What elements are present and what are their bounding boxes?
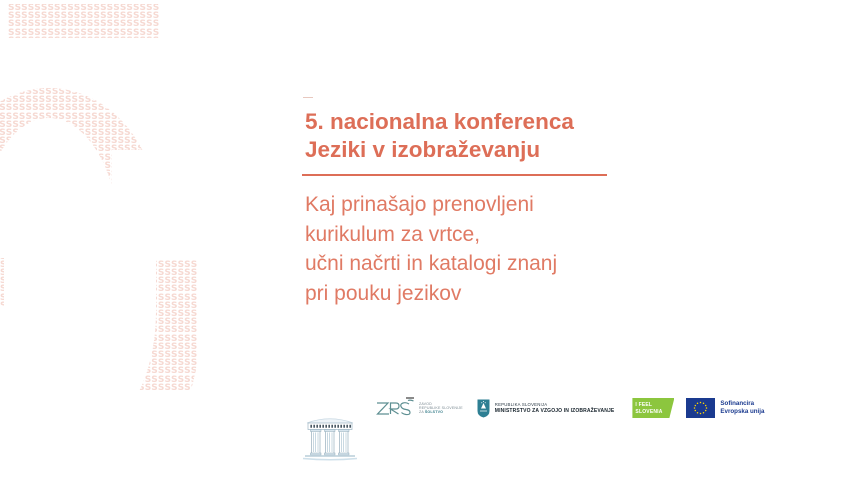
zrss-line-3-bold: ŠOLSTVO (425, 410, 443, 414)
page-title: 5. nacionalna konferenca Jeziki v izobra… (305, 108, 635, 164)
classical-building-logo (298, 408, 362, 464)
zrss-monogram-icon (375, 397, 415, 419)
ministry-line-2: MINISTRSTVO ZA VZGOJO IN IZOBRAŽEVANJE (495, 408, 615, 415)
title-divider (302, 174, 607, 176)
eu-cofunding-logo: Sofinancira Evropska unija (686, 398, 764, 418)
decorative-tick-mark (303, 97, 313, 98)
ifeel-line-1: I FEEL (635, 402, 652, 408)
title-line-1: 5. nacionalna konferenca (305, 108, 635, 136)
partner-logo-strip: ZAVOD REPUBLIKE SLOVENIJE ZA ŠOLSTVO REP… (295, 388, 795, 428)
zrss-logo: ZAVOD REPUBLIKE SLOVENIJE ZA ŠOLSTVO (375, 397, 463, 419)
watermark-mask-upper (0, 118, 120, 258)
eu-flag-icon (686, 398, 715, 418)
background-watermark-s: SSSSSSSSSSSSSSSSSSSSSSSSSSSSSSSSSSSSSSSS… (0, 0, 300, 480)
subtitle-line-3: učni načrti in katalogi znanj (305, 249, 645, 279)
subtitle-line-2: kurikulum za vrtce, (305, 220, 645, 250)
page-subtitle: Kaj prinašajo prenovljeni kurikulum za v… (305, 190, 645, 308)
watermark-segment-upper-curve: SSSSSSSSSSSSSSSSSSSSSSSSSSSSSSSSSSSSSSSS… (0, 88, 158, 248)
conference-title-slide: SSSSSSSSSSSSSSSSSSSSSSSSSSSSSSSSSSSSSSSS… (0, 0, 854, 480)
i-feel-slovenia-logo: I FEEL SLOVENIA (632, 398, 674, 418)
subtitle-line-4: pri pouku jezikov (305, 279, 645, 309)
eu-line-2: Evropska unija (720, 408, 764, 416)
watermark-mask-lower (4, 228, 156, 438)
i-feel-slovenia-badge: I FEEL SLOVENIA (632, 398, 674, 418)
zrss-line-3: ZA ŠOLSTVO (419, 410, 463, 414)
watermark-mask-right-gap (112, 150, 222, 260)
slovenia-coat-of-arms-icon (477, 399, 490, 418)
title-line-2: Jeziki v izobraževanju (305, 136, 635, 164)
zrss-wordmark: ZAVOD REPUBLIKE SLOVENIJE ZA ŠOLSTVO (419, 402, 463, 415)
ministry-wordmark: REPUBLIKA SLOVENIJA MINISTRSTVO ZA VZGOJ… (495, 402, 615, 414)
ministry-logo: REPUBLIKA SLOVENIJA MINISTRSTVO ZA VZGOJ… (477, 399, 615, 418)
subtitle-line-1: Kaj prinašajo prenovljeni (305, 190, 645, 220)
ifeel-line-2: SLOVENIA (635, 409, 662, 415)
watermark-segment-lower-bowl: SSSSSSSSSSSSSSSSSSSSSSSSSSSSSSSSSSSSSSSS… (0, 228, 200, 478)
eu-wordmark: Sofinancira Evropska unija (720, 400, 764, 416)
eu-line-1: Sofinancira (720, 400, 764, 408)
watermark-segment-top: SSSSSSSSSSSSSSSSSSSSSSSSSSSSSSSSSSSSSSSS… (8, 4, 160, 38)
watermark-mask-left-gap (0, 306, 52, 480)
